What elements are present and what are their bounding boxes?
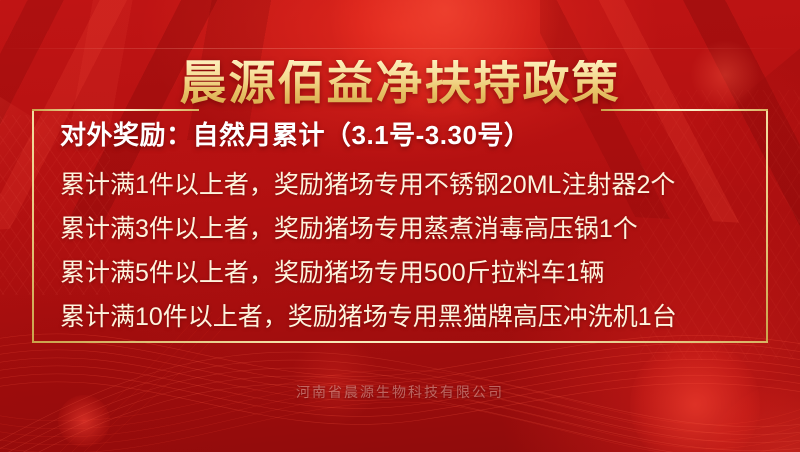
company-name: 河南省晨源生物科技有限公司 bbox=[0, 382, 800, 402]
policy-lead-line: 对外奖励：自然月累计（3.1号-3.30号） bbox=[60, 115, 740, 152]
policy-item-row: 累计满3件以上者，奖励猪场专用蒸煮消毒高压锅1个 bbox=[60, 209, 740, 245]
glow-orb-icon bbox=[290, 335, 380, 425]
policy-content: 对外奖励：自然月累计（3.1号-3.30号） 累计满1件以上者，奖励猪场专用不锈… bbox=[32, 109, 768, 343]
promo-poster: 晨源佰益净扶持政策 对外奖励：自然月累计（3.1号-3.30号） 累计满1件以上… bbox=[0, 0, 800, 452]
poster-title: 晨源佰益净扶持政策 bbox=[0, 60, 800, 107]
policy-item-row: 累计满10件以上者，奖励猪场专用黑猫牌高压冲洗机1台 bbox=[60, 297, 740, 333]
glow-orb-icon bbox=[58, 395, 110, 447]
policy-item-row: 累计满5件以上者，奖励猪场专用500斤拉料车1辆 bbox=[60, 253, 740, 289]
policy-item-row: 累计满1件以上者，奖励猪场专用不锈钢20ML注射器2个 bbox=[60, 165, 740, 201]
horizon-line-decoration bbox=[0, 48, 800, 49]
